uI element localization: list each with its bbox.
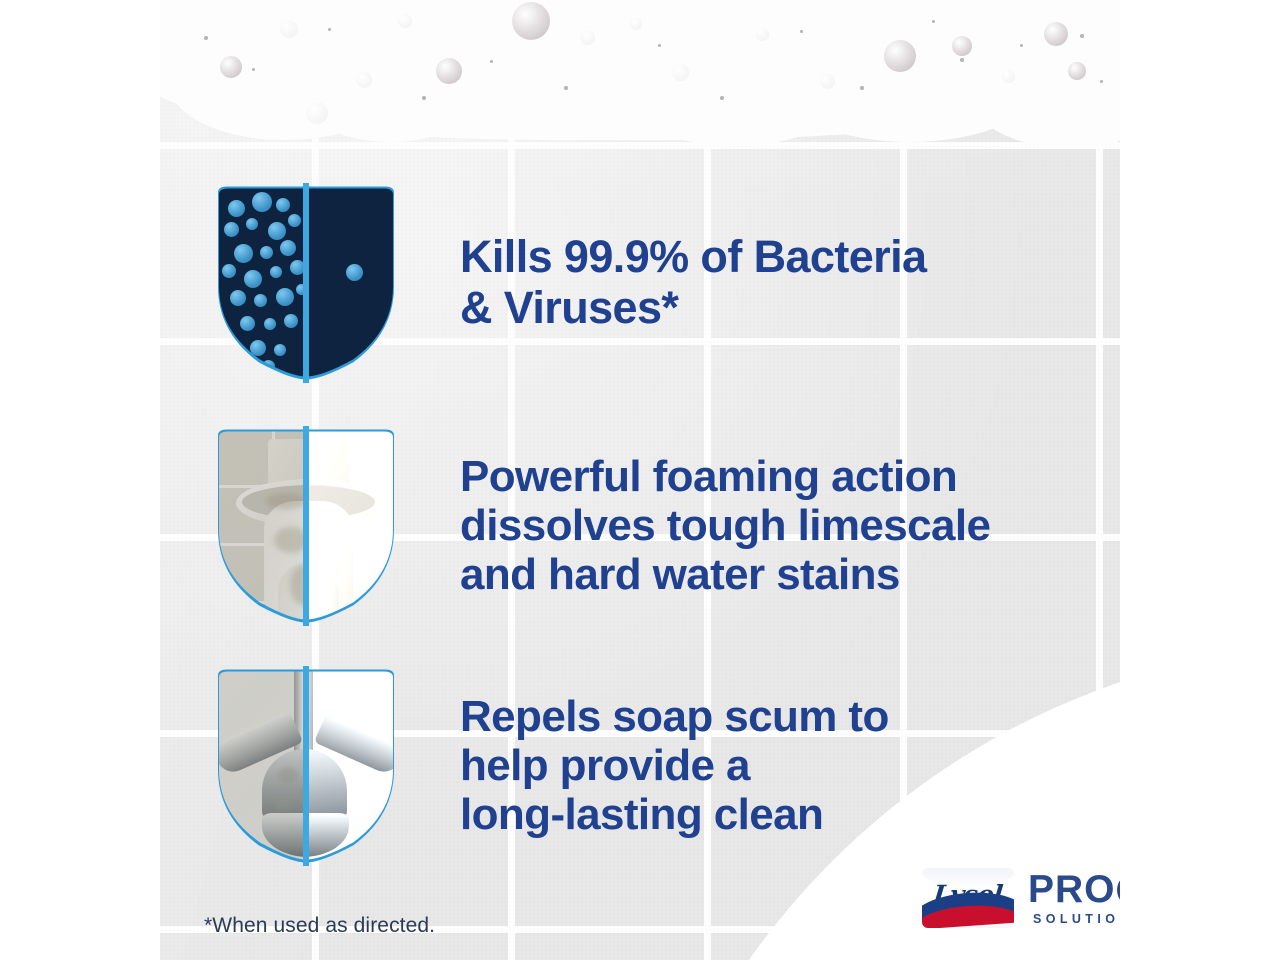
globe-icon (1117, 873, 1120, 907)
brand-logo-lockup: Lysol PRO SOLUTIONS (922, 868, 1120, 928)
headline-line: Powerful foaming action (460, 452, 990, 501)
feature-row-toilet: Powerful foaming action dissolves tough … (160, 418, 1120, 633)
headline-line: Kills 99.9% of Bacteria (460, 232, 926, 282)
headline-line: long-lasting clean (460, 790, 889, 839)
headline-line: Repels soap scum to (460, 692, 889, 741)
lysol-badge-icon: Lysol (922, 868, 1014, 928)
soap-foam-band (160, 0, 1120, 160)
headline-line: help provide a (460, 741, 889, 790)
pro-wordmark: PRO (1028, 870, 1116, 909)
footnote-disclaimer: *When used as directed. (204, 914, 435, 938)
image-canvas: Kills 99.9% of Bacteria & Viruses* (0, 0, 1280, 960)
feature-copy-faucet: Repels soap scum to help provide a long-… (452, 692, 889, 840)
feature-copy-germs: Kills 99.9% of Bacteria & Viruses* (452, 232, 926, 333)
headline-line: & Viruses* (460, 283, 926, 333)
shield-toilet-icon (211, 426, 401, 626)
pro-solutions-mark: PRO SOLUTIONS (1028, 870, 1120, 926)
feature-row-germs: Kills 99.9% of Bacteria & Viruses* (160, 175, 1120, 390)
content-panel: Kills 99.9% of Bacteria & Viruses* (160, 0, 1120, 960)
shield-faucet-icon (211, 666, 401, 866)
solutions-wordmark: SOLUTIONS (1033, 912, 1120, 926)
shield-germs-icon (211, 183, 401, 383)
feature-row-faucet: Repels soap scum to help provide a long-… (160, 658, 1120, 873)
headline-line: and hard water stains (460, 550, 990, 599)
feature-copy-toilet: Powerful foaming action dissolves tough … (452, 452, 990, 600)
headline-line: dissolves tough limescale (460, 501, 990, 550)
